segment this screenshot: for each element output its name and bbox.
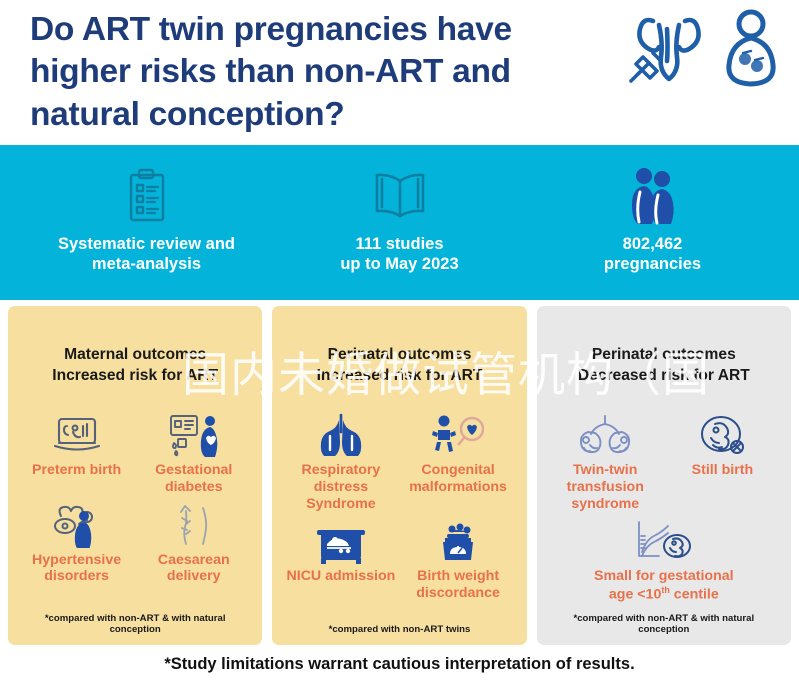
outcome-item: Small for gestational age <10th centile xyxy=(547,516,781,603)
outcome-label: Hypertensive disorders xyxy=(32,552,121,586)
caesarean-scar-icon xyxy=(171,500,217,548)
panel-perinatal-decreased: Perinatal outcomes Decreased risk for AR… xyxy=(537,306,791,645)
panel-item-grid: Twin-twin transfusion syndrome xyxy=(547,396,781,613)
growth-chart-fetus-icon xyxy=(629,516,699,564)
label-superscript: th xyxy=(661,585,670,595)
outcome-item: NICU admission xyxy=(282,516,399,602)
outcome-label: Twin-twin transfusion syndrome xyxy=(567,462,644,512)
panel-perinatal-increased: Perinatal outcomes Increased risk for AR… xyxy=(272,306,526,645)
twin-fetuses-placenta-icon xyxy=(574,410,636,458)
header: Do ART twin pregnancies have higher risk… xyxy=(0,0,799,145)
uterus-syringe-icon xyxy=(623,9,715,94)
outcome-item: Still birth xyxy=(664,410,781,512)
pregnant-woman-twins-icon xyxy=(721,9,781,94)
outcome-item: Gestational diabetes xyxy=(135,410,252,496)
stat-label: Systematic review and meta-analysis xyxy=(58,234,235,274)
outcome-item: Hypertensive disorders xyxy=(18,500,135,586)
outcome-label: NICU admission xyxy=(287,568,396,585)
lungs-icon xyxy=(314,410,368,458)
panel-heading: Maternal outcomes Increased risk for ART xyxy=(18,344,252,386)
stat-studies-count: 111 studies up to May 2023 xyxy=(273,165,526,274)
outcome-label: Gestational diabetes xyxy=(155,462,232,496)
panel-footnote: *compared with non-ART & with natural co… xyxy=(547,613,781,637)
outcome-item: Twin-twin transfusion syndrome xyxy=(547,410,664,512)
outcome-label: Caesarean delivery xyxy=(158,552,230,586)
outcome-label: Respiratory distress Syndrome xyxy=(284,462,397,512)
label-suffix: centile xyxy=(670,587,719,603)
header-icon-group xyxy=(623,9,781,136)
panel-heading: Perinatal outcomes Decreased risk for AR… xyxy=(547,344,781,386)
stillbirth-fetus-cross-icon xyxy=(697,410,747,458)
stat-label: 802,462 pregnancies xyxy=(604,234,701,274)
page-title: Do ART twin pregnancies have higher risk… xyxy=(30,9,605,137)
ultrasound-monitor-icon xyxy=(51,410,103,458)
open-book-icon xyxy=(370,165,430,227)
stat-label: 111 studies up to May 2023 xyxy=(340,234,458,274)
panel-footnote: *compared with non-ART twins xyxy=(282,624,516,637)
study-limitations-note: *Study limitations warrant cautious inte… xyxy=(0,645,799,684)
glucose-meter-pregnant-icon xyxy=(166,410,222,458)
outcome-label: Preterm birth xyxy=(32,462,121,479)
outcome-item: Caesarean delivery xyxy=(135,500,252,586)
incubator-icon xyxy=(315,516,367,564)
two-pregnant-women-icon xyxy=(624,165,682,227)
baby-weighing-scale-icon xyxy=(433,516,483,564)
panel-footnote: *compared with non-ART & with natural co… xyxy=(18,613,252,637)
stat-pregnancies-count: 802,462 pregnancies xyxy=(526,165,779,274)
outcome-label: Congenital malformations xyxy=(409,462,507,496)
stats-band: Systematic review and meta-analysis 111 … xyxy=(0,145,799,300)
outcome-item: Birth weight discordance xyxy=(399,516,516,602)
outcome-label: Birth weight discordance xyxy=(416,568,500,602)
outcome-label: Still birth xyxy=(692,462,753,479)
outcome-item: Respiratory distress Syndrome xyxy=(282,410,399,512)
panel-item-grid: Preterm birth xyxy=(18,396,252,613)
panel-item-grid: Respiratory distress Syndrome xyxy=(282,396,516,624)
baby-magnifier-heart-icon xyxy=(429,410,487,458)
blood-pressure-pregnant-icon xyxy=(49,500,105,548)
panel-maternal-outcomes: Maternal outcomes Increased risk for ART xyxy=(8,306,262,645)
outcome-item: Congenital malformations xyxy=(399,410,516,512)
panel-heading: Perinatal outcomes Increased risk for AR… xyxy=(282,344,516,386)
stat-systematic-review: Systematic review and meta-analysis xyxy=(20,165,273,274)
clipboard-checklist-icon xyxy=(125,165,169,227)
outcome-item: Preterm birth xyxy=(18,410,135,496)
outcome-label: Small for gestational age <10th centile xyxy=(594,568,734,603)
outcome-panels: Maternal outcomes Increased risk for ART xyxy=(0,300,799,645)
